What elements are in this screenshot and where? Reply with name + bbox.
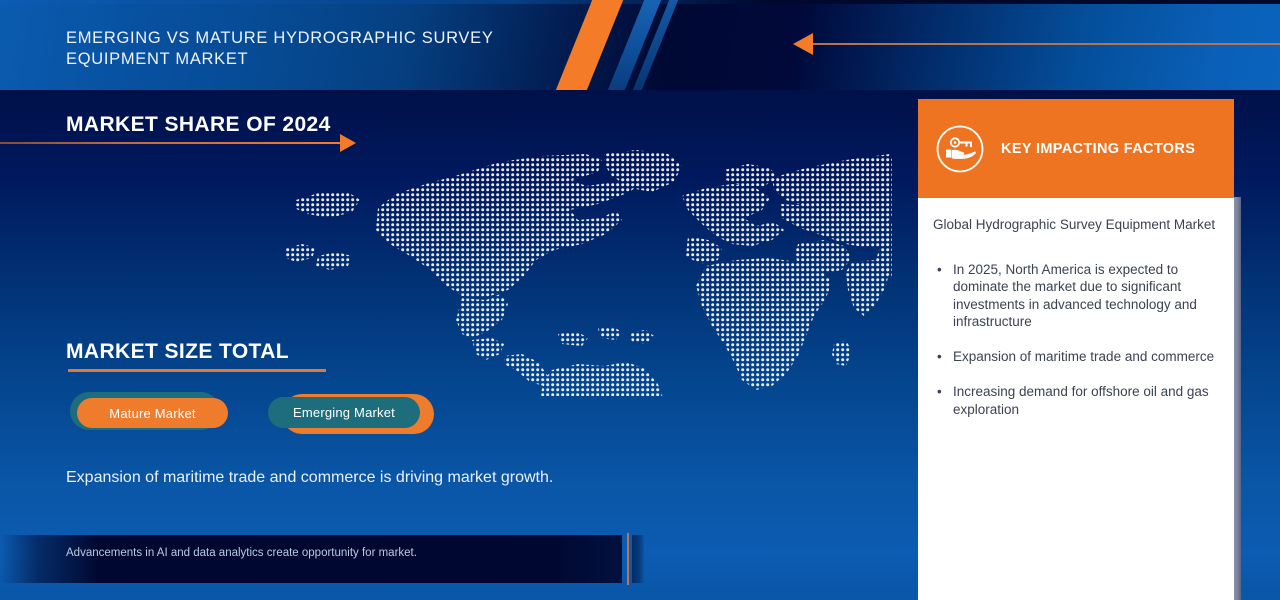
left-arrow-icon <box>793 33 813 55</box>
right-arrow-icon <box>340 134 356 152</box>
key-factors-header: KEY IMPACTING FACTORS <box>918 99 1234 198</box>
header-top-rule <box>0 0 1280 4</box>
dotted-world-map <box>286 148 892 396</box>
market-share-heading: MARKET SHARE OF 2024 <box>66 113 331 137</box>
panel-subtitle: Global Hydrographic Survey Equipment Mar… <box>933 216 1218 234</box>
hand-holding-key-icon <box>935 124 985 174</box>
footer-band-tail <box>632 535 644 583</box>
bullet-glyph: • <box>937 261 942 278</box>
list-item: • Expansion of maritime trade and commer… <box>933 348 1223 365</box>
infographic-canvas: EMERGING VS MATURE HYDROGRAPHIC SURVEY E… <box>0 0 1280 600</box>
key-factors-body: Global Hydrographic Survey Equipment Mar… <box>918 198 1234 600</box>
key-factors-title: KEY IMPACTING FACTORS <box>1001 141 1195 157</box>
market-size-heading: MARKET SIZE TOTAL <box>66 340 289 364</box>
page-title: EMERGING VS MATURE HYDROGRAPHIC SURVEY E… <box>66 28 586 70</box>
list-item-label: Increasing demand for offshore oil and g… <box>953 384 1209 416</box>
bullet-glyph: • <box>937 383 942 400</box>
market-size-underline <box>68 369 326 372</box>
footer-band-text: Advancements in AI and data analytics cr… <box>66 546 586 561</box>
list-item-label: Expansion of maritime trade and commerce <box>953 349 1214 364</box>
bullet-glyph: • <box>937 348 942 365</box>
list-item-label: In 2025, North America is expected to do… <box>953 262 1197 329</box>
lead-paragraph: Expansion of maritime trade and commerce… <box>66 468 586 488</box>
mature-market-pill[interactable]: Mature Market <box>77 398 228 428</box>
footer-band-divider <box>627 533 629 585</box>
list-item: • Increasing demand for offshore oil and… <box>933 383 1223 418</box>
list-item: • In 2025, North America is expected to … <box>933 261 1223 330</box>
key-factors-list: • In 2025, North America is expected to … <box>933 261 1223 436</box>
header-arrow-line <box>812 43 1280 45</box>
header-band: EMERGING VS MATURE HYDROGRAPHIC SURVEY E… <box>0 0 1280 90</box>
market-share-arrow-line <box>0 142 345 144</box>
emerging-market-pill[interactable]: Emerging Market <box>268 397 420 428</box>
